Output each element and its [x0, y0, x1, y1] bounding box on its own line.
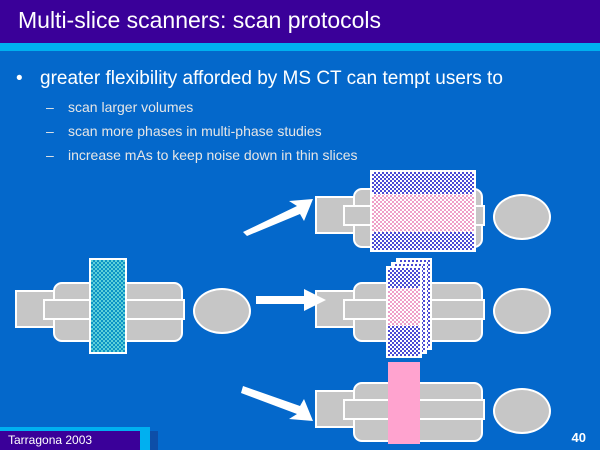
slide-canvas: Multi-slice scanners: scan protocols •gr…: [0, 0, 600, 450]
footer-label: Tarragona 2003: [8, 433, 92, 447]
title-accent-rule: [0, 43, 600, 51]
patient-head: [493, 388, 551, 434]
sub-bullet-1: –scan larger volumes: [46, 99, 193, 115]
scan-slab-coverage-multi-phase: [388, 288, 420, 326]
figure-baseline-scanner: [15, 282, 250, 342]
main-bullet-text: greater flexibility afforded by MS CT ca…: [40, 68, 503, 89]
sub-bullet-2: –scan more phases in multi-phase studies: [46, 123, 322, 139]
patient-head: [193, 288, 251, 334]
scan-slab-coverage-larger-volume: [372, 194, 474, 232]
arrow-to-thin-slice-icon: [241, 384, 316, 424]
dash-marker-icon: –: [46, 147, 68, 163]
page-number: 40: [572, 430, 586, 445]
footer-tab-blue: [150, 431, 158, 450]
dash-marker-icon: –: [46, 99, 68, 115]
sub-bullet-3: –increase mAs to keep noise down in thin…: [46, 147, 357, 163]
sub-bullet-1-text: scan larger volumes: [68, 99, 193, 115]
scan-slab-thin-slice: [388, 362, 420, 444]
bullet-marker-icon: •: [16, 68, 40, 90]
sub-bullet-3-text: increase mAs to keep noise down in thin …: [68, 147, 357, 163]
footer-tab-cyan: [140, 427, 150, 450]
main-bullet: •greater flexibility afforded by MS CT c…: [16, 68, 586, 90]
arrow-to-multi-phase-icon: [256, 288, 328, 312]
figure-multi-phase-scanner: [315, 282, 550, 342]
arrow-to-larger-volume-icon: [241, 196, 316, 236]
scan-slab-baseline: [89, 258, 127, 354]
page-title: Multi-slice scanners: scan protocols: [18, 7, 381, 34]
patient-head: [493, 288, 551, 334]
figure-thin-slice-scanner: [315, 382, 550, 442]
sub-bullet-2-text: scan more phases in multi-phase studies: [68, 123, 322, 139]
patient-head: [493, 194, 551, 240]
dash-marker-icon: –: [46, 123, 68, 139]
